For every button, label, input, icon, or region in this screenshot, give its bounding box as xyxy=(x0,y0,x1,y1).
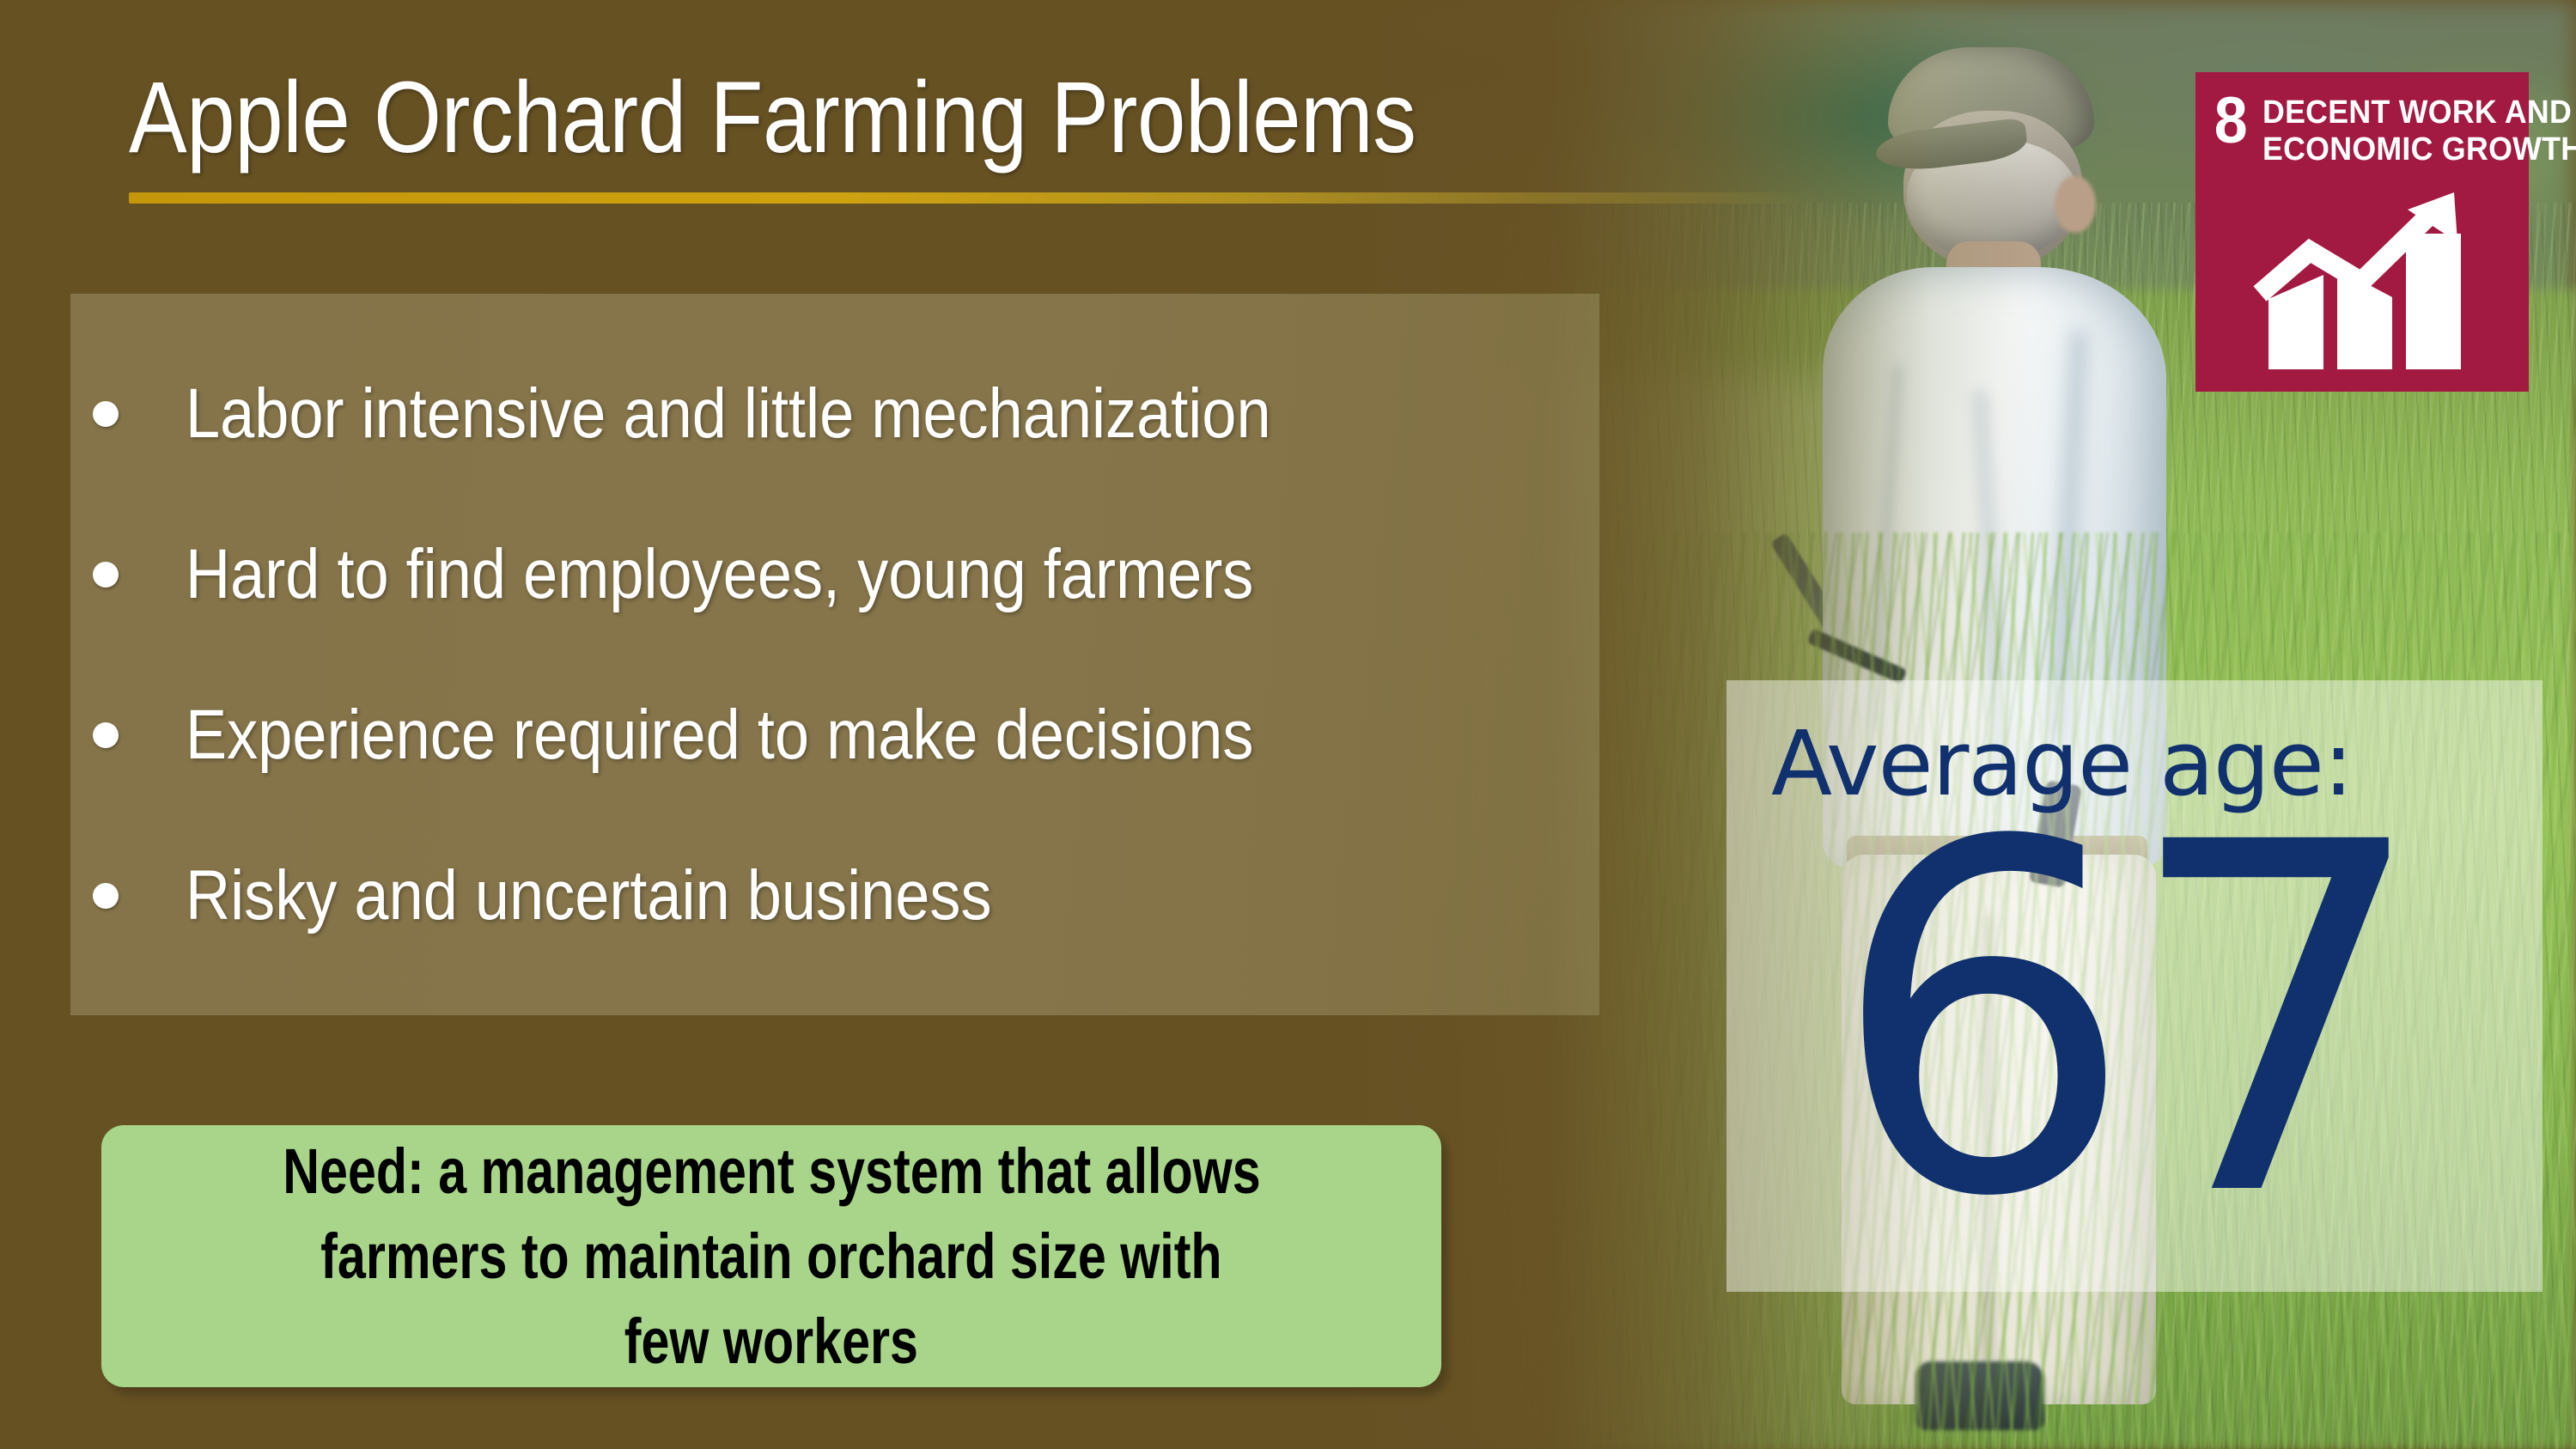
list-item-label: Risky and uncertain business xyxy=(186,861,992,931)
title-underline-rule xyxy=(129,192,1821,204)
list-item: Experience required to make decisions xyxy=(70,700,1599,770)
bar-chart-rising-arrow-icon xyxy=(2213,169,2515,392)
sdg-header: 8 DECENT WORK AND ECONOMIC GROWTH xyxy=(2213,91,2515,169)
average-age-value: 67 xyxy=(1830,782,2418,1263)
sdg-goal-8-logo: 8 DECENT WORK AND ECONOMIC GROWTH xyxy=(2195,72,2529,392)
slide-canvas: Apple Orchard Farming Problems Labor int… xyxy=(0,0,2576,1449)
sdg-goal-number: 8 xyxy=(2214,91,2248,151)
bullet-dot-icon xyxy=(93,562,119,588)
sdg-title-line: DECENT WORK AND xyxy=(2262,94,2576,131)
average-age-panel: Average age: 67 xyxy=(1726,680,2543,1292)
need-statement-box: Need: a management system that allows fa… xyxy=(101,1125,1441,1387)
need-statement-line: Need: a management system that allows xyxy=(283,1129,1260,1214)
list-item: Labor intensive and little mechanization xyxy=(70,379,1599,449)
bullet-dot-icon xyxy=(93,401,119,427)
need-statement-line: farmers to maintain orchard size with xyxy=(320,1214,1221,1299)
need-statement-line: few workers xyxy=(624,1299,918,1384)
sdg-title-line: ECONOMIC GROWTH xyxy=(2262,131,2576,168)
page-title: Apple Orchard Farming Problems xyxy=(129,65,1416,172)
list-item: Risky and uncertain business xyxy=(70,861,1599,931)
sdg-title-block: DECENT WORK AND ECONOMIC GROWTH xyxy=(2262,91,2576,169)
problems-list-panel: Labor intensive and little mechanization… xyxy=(70,294,1599,1015)
bullet-dot-icon xyxy=(93,722,119,748)
list-item-label: Hard to find employees, young farmers xyxy=(186,539,1253,610)
list-item: Hard to find employees, young farmers xyxy=(70,539,1599,610)
bullet-dot-icon xyxy=(93,883,119,909)
list-item-label: Labor intensive and little mechanization xyxy=(186,379,1271,449)
list-item-label: Experience required to make decisions xyxy=(186,700,1253,770)
